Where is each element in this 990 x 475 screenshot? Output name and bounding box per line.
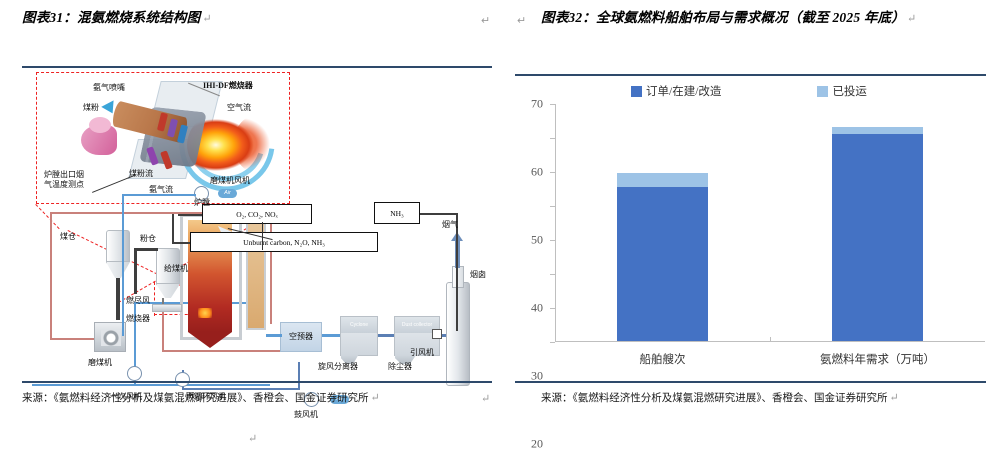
pipe-into-aph [266, 334, 282, 337]
legend-swatch-ordered [631, 86, 642, 97]
x-tick-label: 船舶艘次 [640, 351, 686, 367]
legend-swatch-inservice [817, 86, 828, 97]
label-coal-mill: 磨煤机 [88, 358, 112, 368]
y-tick-label: 60 [531, 165, 543, 180]
pipe-recirc-riser [298, 362, 300, 388]
pipe-hot-air-riser [50, 212, 52, 340]
chart-legend: 订单/在建/改造 已投运 [511, 80, 987, 102]
pipe-aph-to-cyclone [322, 334, 340, 337]
label-chimney: 烟囱 [470, 270, 486, 280]
pipe-furnace-bottom-red [162, 350, 280, 352]
source-note-left-text: 来源：《氨燃料经济性分析及煤氨混燃研究进展》、香橙会、国金证券研究所 [22, 393, 369, 404]
figure-31-title-text: 图表31：混氨燃烧系统结构图 [22, 10, 200, 25]
y-tick: 70 [550, 104, 555, 105]
label-dust-collector-cn: 除尘器 [388, 362, 412, 372]
label-induced-draft-fan: 引风机 [410, 348, 434, 358]
gas-analysis-box-1: O₂, CO₂, NOₓ [202, 204, 312, 224]
label-powder-bunker: 粉仓 [140, 234, 156, 244]
pilcrow-mark-left-edge: ↵ [481, 14, 490, 27]
label-pulverized-coal: 煤粉 [83, 103, 99, 113]
label-burner: 燃烧器 [126, 314, 150, 324]
label-coal-bunker: 煤仓 [60, 232, 76, 242]
cyclone-label-en: Cyclone [341, 317, 377, 333]
chart-plot-area: 010203040506070船舶艘次氨燃料年需求（万吨） [555, 104, 985, 342]
coal-bunker-vessel [106, 230, 130, 262]
arrow-to-gas-box-1 [178, 214, 202, 216]
pipe-powder-top [134, 248, 158, 251]
pipe-mill-fan-riser [122, 216, 124, 336]
chimney-stack [446, 282, 470, 386]
y-tick: 60 [550, 138, 555, 139]
air-tag-mill: Air [218, 189, 237, 198]
pilcrow-mark-right: ↵ [905, 13, 916, 25]
label-ammonia-nozzle: 氨气喷嘴 [93, 83, 125, 93]
powder-bunker-hopper [156, 284, 180, 298]
y-tick: 50 [550, 172, 555, 173]
label-coal-flow: 煤粉流 [129, 169, 153, 179]
recirculation-fan-icon[interactable] [175, 372, 190, 387]
x-category-separator [770, 337, 771, 342]
divider-top-left [22, 66, 492, 68]
figure-panel-left: 图表31：混氨燃烧系统结构图↵ ↵ [0, 0, 500, 475]
legend-item-ordered[interactable]: 订单/在建/改造 [631, 83, 721, 99]
bar-stack[interactable] [617, 173, 707, 341]
arrow-to-gas-box-2 [172, 242, 190, 244]
figure-32-title: 图表32：全球氨燃料船舶布局与需求概况（截至 2025 年底）↵ [505, 0, 990, 29]
bar-stack[interactable] [832, 127, 922, 341]
source-note-left: 来源：《氨燃料经济性分析及煤氨混燃研究进展》、香橙会、国金证券研究所↵ [22, 390, 496, 405]
gas-analysis-box-1-text: O₂, CO₂, NOₓ [236, 210, 278, 219]
divider-bottom-right [515, 381, 986, 383]
nh3-feed-v [456, 213, 458, 331]
divider-top-right [515, 74, 986, 76]
y-tick: 10 [550, 308, 555, 309]
y-axis [555, 104, 556, 342]
pilcrow-mark-right-edge: ↵ [517, 14, 526, 27]
y-tick-label: 40 [531, 301, 543, 316]
x-tick-label: 氨燃料年需求（万吨） [820, 351, 935, 367]
y-tick: 40 [550, 206, 555, 207]
label-burnout-air: 燃尽风 [126, 296, 150, 306]
primary-air-fan-icon[interactable] [127, 366, 142, 381]
pipe-hot-air-to-mill [50, 338, 96, 340]
pipe-mill-fan-down [122, 194, 124, 216]
pilcrow-mark-page-bottom: ↵ [248, 432, 257, 445]
label-forced-draft-fan: 鼓风机 [294, 410, 318, 420]
pipe-cyclone-to-dust [378, 334, 394, 337]
damper-icon [432, 329, 442, 339]
pilcrow-mark: ↵ [200, 13, 211, 25]
chute-bunker-to-mill [116, 278, 120, 320]
pilcrow-mark-left-foot: ↵ [481, 392, 490, 405]
pipe-fd-air-in [32, 384, 136, 386]
label-flue-gas: 烟气 [442, 220, 458, 230]
y-tick: 0 [550, 342, 555, 343]
bar-segment-inservice[interactable] [832, 127, 922, 134]
y-tick: 20 [550, 274, 555, 275]
cyclone-separator: Cyclone [340, 316, 378, 356]
label-furnace-outlet-temp: 炉膛出口烟 气温度测点 [44, 170, 84, 190]
label-mill-fan: 磨煤机风机 [210, 176, 250, 186]
y-tick-label: 20 [531, 437, 543, 452]
figure-32-title-text: 图表32：全球氨燃料船舶布局与需求概况（截至 2025 年底） [541, 10, 905, 25]
label-air-preheater: 空预器 [289, 332, 313, 342]
pipe-mill-fan-h [122, 194, 196, 196]
page-root: 图表31：混氨燃烧系统结构图↵ ↵ [0, 0, 990, 475]
chimney-neck [452, 266, 464, 288]
legend-label-inservice: 已投运 [832, 83, 867, 99]
legend-label-ordered: 订单/在建/改造 [646, 83, 721, 99]
pipe-mill-to-powder-bunker [134, 248, 137, 294]
ammonia-fuel-vessels-chart: 订单/在建/改造 已投运 010203040506070船舶艘次氨燃料年需求（万… [511, 80, 987, 380]
bar-segment-ordered[interactable] [832, 134, 922, 341]
coal-feeder-unit [152, 304, 182, 312]
y-tick-label: 70 [531, 97, 543, 112]
y-tick: 30 [550, 240, 555, 241]
divider-bottom-left [22, 381, 492, 383]
tap-line-vertical [172, 214, 174, 242]
figure-31-title: 图表31：混氨燃烧系统结构图↵ [0, 0, 500, 29]
label-cyclone-cn: 旋风分离器 [318, 362, 358, 372]
bar-segment-inservice[interactable] [617, 173, 707, 187]
coal-bunker-hopper [106, 262, 130, 278]
combustion-system-diagram: 氨气喷嘴 煤粉 IHI-DF燃烧器 空气流 煤粉流 氨气流 [22, 70, 492, 375]
legend-item-inservice[interactable]: 已投运 [817, 83, 867, 99]
gas-analysis-box-2: Unburnt carbon, N₂O, NH₃ [190, 232, 378, 252]
pipe-hot-air-down [270, 212, 272, 324]
nh3-box-text: NH₃ [390, 209, 403, 218]
figure-panel-right: ↵ 图表32：全球氨燃料船舶布局与需求概况（截至 2025 年底）↵ 订单/在建… [505, 0, 990, 475]
y-tick-label: 50 [531, 233, 543, 248]
pilcrow-mark-source-right: ↵ [888, 392, 899, 404]
source-note-right: 来源：《氨燃料经济性分析及煤氨混燃研究进展》、香橙会、国金证券研究所↵ [541, 390, 986, 405]
pipe-primary-air-bottom [134, 384, 270, 386]
nozzle-tip [89, 117, 111, 133]
label-ihi-df-burner: IHI-DF燃烧器 [203, 81, 253, 91]
nh3-feed-h [420, 213, 458, 215]
label-furnace: 炉膛 [194, 198, 210, 208]
pilcrow-mark-source-left: ↵ [369, 392, 380, 404]
bar-segment-ordered[interactable] [617, 187, 707, 341]
nh3-box: NH₃ [374, 202, 420, 224]
air-preheater: 空预器 [280, 322, 322, 352]
label-air-flow: 空气流 [227, 103, 251, 113]
gas-analysis-box-2-text: Unburnt carbon, N₂O, NH₃ [243, 238, 325, 247]
burner-flame-icon [198, 308, 212, 318]
source-note-right-text: 来源：《氨燃料经济性分析及煤氨混燃研究进展》、香橙会、国金证券研究所 [541, 393, 888, 404]
callout-line-left [35, 204, 59, 229]
label-coal-feeder: 给煤机 [164, 264, 188, 274]
